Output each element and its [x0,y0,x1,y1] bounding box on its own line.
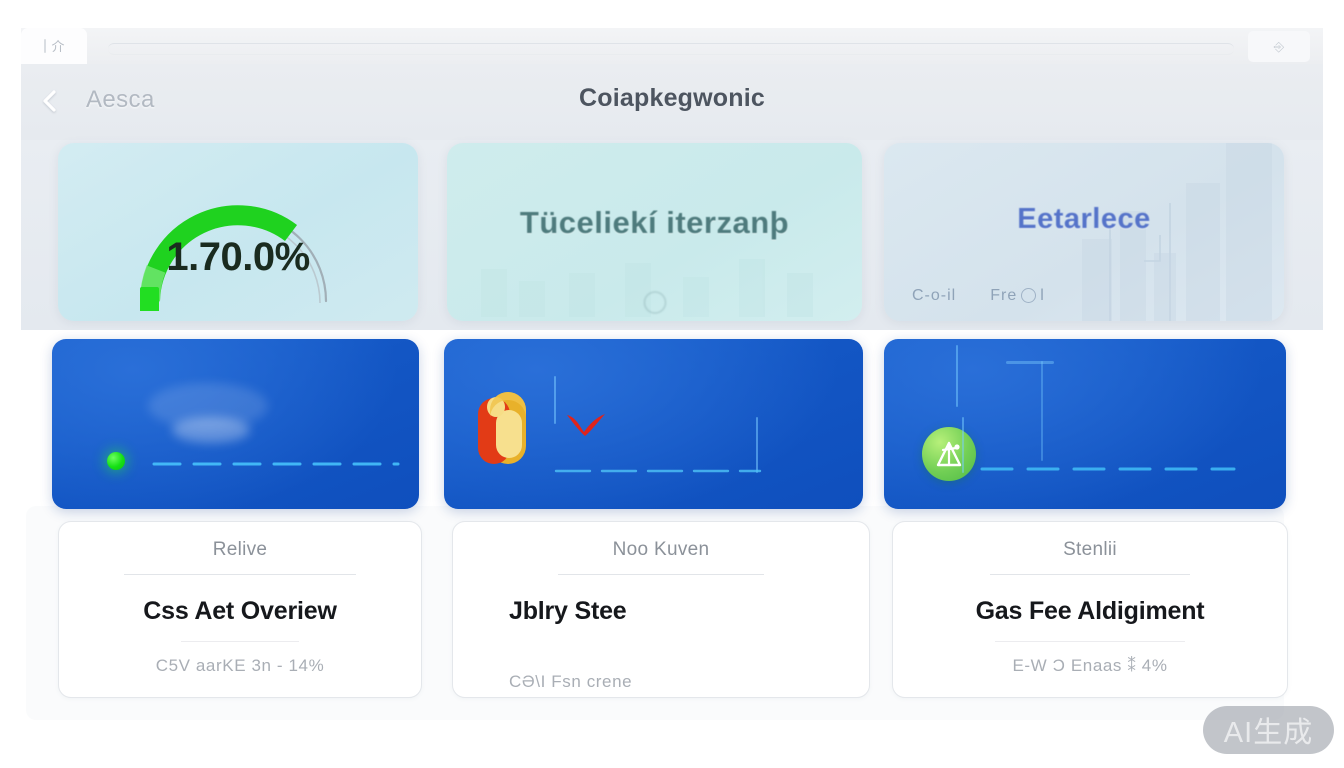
dashed-baseline [554,465,764,477]
grid-line-vertical-a [554,376,556,424]
info-card[interactable]: Noo Kuven Jblry Stee CƏ\I Fsn crene [452,521,870,698]
browser-toolbar-button[interactable]: ⎆ [1248,31,1310,62]
dashed-route-line [152,457,402,471]
grid-line-vertical-b [962,417,964,473]
ai-generated-watermark: AI生成 [1203,706,1334,754]
media-tile-tent[interactable] [884,339,1286,509]
info-card-eyebrow: Noo Kuven [613,539,710,561]
circle-outline-icon [643,291,666,314]
stat-foot-left: C-o-il [912,287,956,305]
cloud-haze-icon [148,383,268,429]
page-bottom-margin [0,720,1344,768]
media-tile-ocean[interactable] [52,339,419,509]
profile-icon: ⎆ [1274,39,1284,55]
green-dot-indicator [107,452,125,470]
grid-line-vertical-a [956,345,958,407]
grid-line-horizontal [1006,361,1054,364]
page-left-margin [0,0,21,768]
red-check-bird-icon [564,411,608,437]
green-tent-badge-icon [922,427,976,481]
page-right-margin [1323,0,1344,768]
stat-card-blue-footer: C-o-il Frel [912,287,1045,305]
browser-tab[interactable]: 介 [21,28,87,64]
stat-card-gauge[interactable]: 1.70.0% [58,143,418,321]
divider [558,574,764,575]
divider [124,574,356,575]
info-card-title: Jblry Stee [509,597,627,626]
info-card[interactable]: Relive Css Aet Overiew C5V aarKE 3n - 14… [58,521,422,698]
tab-favicon-icon: 介 [51,40,63,53]
tent-icon [934,440,964,468]
circle-outline-small-icon [1021,288,1036,303]
info-card-subtitle: C5V aarKE 3n - 14% [156,656,325,676]
divider [990,574,1190,575]
tab-divider [44,39,46,53]
orange-capsule-icon [472,388,544,468]
stat-card-teal-title: Tüceliekí iterzanþ [447,205,862,241]
grid-line-vertical-c [1041,361,1043,461]
address-bar[interactable] [108,43,1234,55]
watermark-label: AI生成 [1224,709,1313,751]
info-card-title: Gas Fee Aldigiment [976,597,1205,626]
dashed-baseline [980,463,1240,475]
media-tile-capsule[interactable] [444,339,863,509]
info-card-eyebrow: Stenlii [1063,539,1117,561]
info-card-eyebrow: Relive [213,539,268,561]
stat-card-blue-title: Eetarlece [884,203,1284,236]
divider-secondary [995,641,1185,642]
stat-foot-right: Frel [990,287,1045,305]
stat-card-teal[interactable]: Tüceliekí iterzanþ [447,143,862,321]
info-card-subtitle: CƏ\I Fsn crene [509,672,632,692]
info-card[interactable]: Stenlii Gas Fee Aldigiment E-W Ɔ Enaas ⁑… [892,521,1288,698]
app-screen: 介 ⎆ Aesca Coiapkegwonic 1.70.0% [0,0,1344,768]
stat-card-blue[interactable]: Eetarlece C-o-il Frel [884,143,1284,321]
page-title: Coiapkegwonic [0,84,1344,113]
divider-secondary [181,641,299,642]
gauge-value-label: 1.70.0% [58,235,418,280]
gauge-chart [58,151,418,311]
info-card-title: Css Aet Overiew [143,597,336,626]
info-card-subtitle: E-W Ɔ Enaas ⁑ 4% [1012,656,1167,676]
